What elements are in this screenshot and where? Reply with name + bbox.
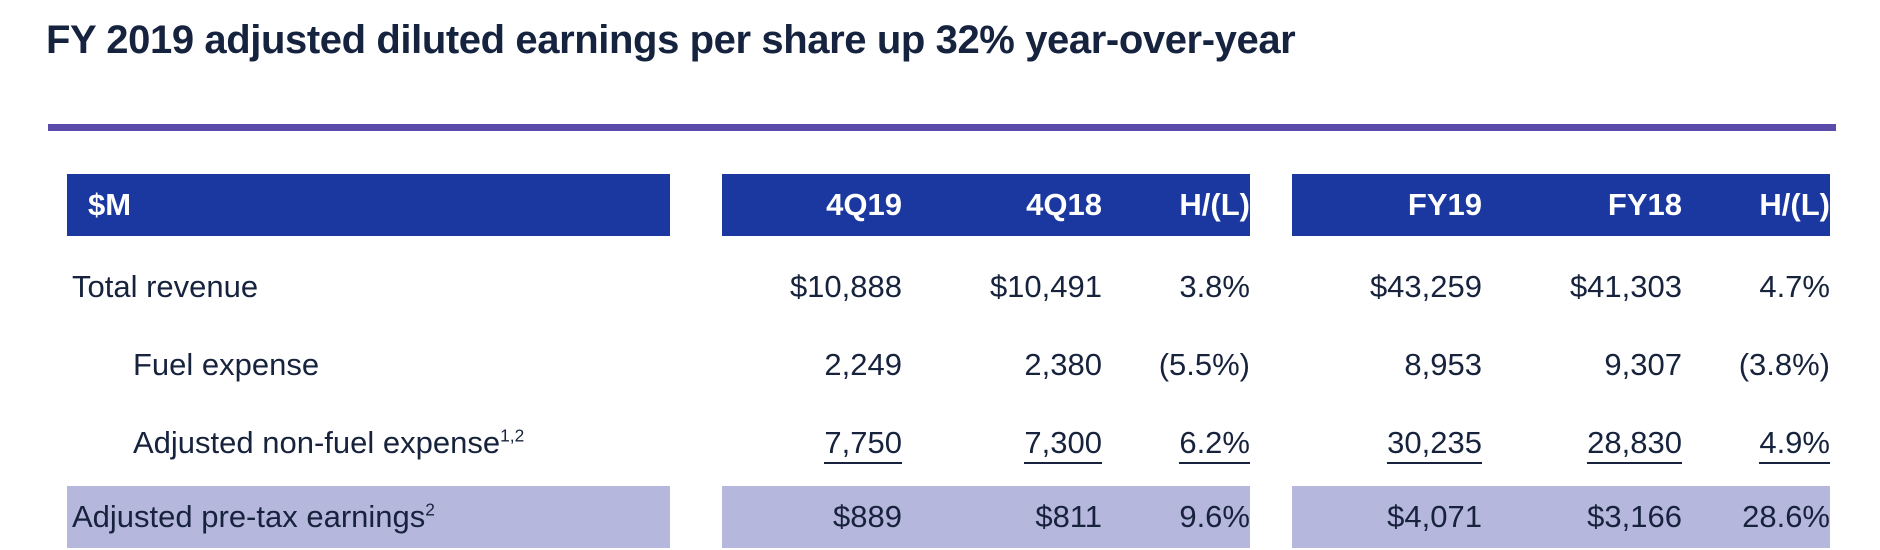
page-title: FY 2019 adjusted diluted earnings per sh… bbox=[46, 16, 1295, 64]
row-label-footnote-marker: 1,2 bbox=[500, 426, 524, 446]
cell-4q18: 7,300 bbox=[922, 412, 1102, 474]
table-row: Total revenue $10,888 $10,491 3.8% $43,2… bbox=[0, 256, 1880, 318]
column-header-quarter-hl: H/(L) bbox=[1102, 174, 1250, 236]
column-header-fy19: FY19 bbox=[1292, 174, 1482, 236]
cell-quarter-hl: 6.2% bbox=[1102, 412, 1250, 474]
row-label-footnote-marker: 2 bbox=[425, 500, 435, 520]
cell-4q18: $811 bbox=[922, 486, 1102, 548]
column-header-4q18: 4Q18 bbox=[922, 174, 1102, 236]
cell-4q18: 2,380 bbox=[922, 334, 1102, 396]
row-label: Adjusted non-fuel expense1,2 bbox=[133, 412, 524, 474]
cell-fullyear-hl: 28.6% bbox=[1682, 486, 1830, 548]
cell-fy18: $3,166 bbox=[1492, 486, 1682, 548]
column-header-fy18: FY18 bbox=[1492, 174, 1682, 236]
cell-quarter-hl: (5.5%) bbox=[1102, 334, 1250, 396]
row-label: Fuel expense bbox=[133, 334, 319, 396]
accent-divider bbox=[48, 124, 1836, 131]
cell-fy18: $41,303 bbox=[1492, 256, 1682, 318]
cell-fullyear-hl: 4.9% bbox=[1682, 412, 1830, 474]
row-label: Total revenue bbox=[72, 256, 258, 318]
cell-quarter-hl: 9.6% bbox=[1102, 486, 1250, 548]
cell-4q19: 7,750 bbox=[722, 412, 902, 474]
row-label-text: Adjusted non-fuel expense bbox=[133, 425, 500, 460]
row-label-text: Total revenue bbox=[72, 269, 258, 304]
cell-fy19: $4,071 bbox=[1292, 486, 1482, 548]
cell-fullyear-hl: (3.8%) bbox=[1682, 334, 1830, 396]
table-row: Adjusted non-fuel expense1,2 7,750 7,300… bbox=[0, 412, 1880, 474]
row-label-text: Fuel expense bbox=[133, 347, 319, 382]
cell-fullyear-hl: 4.7% bbox=[1682, 256, 1830, 318]
slide-root: FY 2019 adjusted diluted earnings per sh… bbox=[0, 0, 1880, 550]
table-row: Fuel expense 2,249 2,380 (5.5%) 8,953 9,… bbox=[0, 334, 1880, 396]
column-header-fullyear-hl: H/(L) bbox=[1682, 174, 1830, 236]
cell-4q19: $10,888 bbox=[722, 256, 902, 318]
row-label-text: Adjusted pre-tax earnings bbox=[72, 499, 425, 534]
column-header-4q19: 4Q19 bbox=[722, 174, 902, 236]
cell-fy18: 28,830 bbox=[1492, 412, 1682, 474]
cell-fy19: $43,259 bbox=[1292, 256, 1482, 318]
row-label: Adjusted pre-tax earnings2 bbox=[72, 486, 435, 548]
table-row: Adjusted pre-tax earnings2 $889 $811 9.6… bbox=[0, 486, 1880, 548]
cell-4q19: $889 bbox=[722, 486, 902, 548]
cell-fy19: 30,235 bbox=[1292, 412, 1482, 474]
cell-4q18: $10,491 bbox=[922, 256, 1102, 318]
cell-fy18: 9,307 bbox=[1492, 334, 1682, 396]
header-band-unit bbox=[67, 174, 670, 236]
cell-4q19: 2,249 bbox=[722, 334, 902, 396]
cell-fy19: 8,953 bbox=[1292, 334, 1482, 396]
cell-quarter-hl: 3.8% bbox=[1102, 256, 1250, 318]
column-header-unit: $M bbox=[88, 174, 131, 236]
